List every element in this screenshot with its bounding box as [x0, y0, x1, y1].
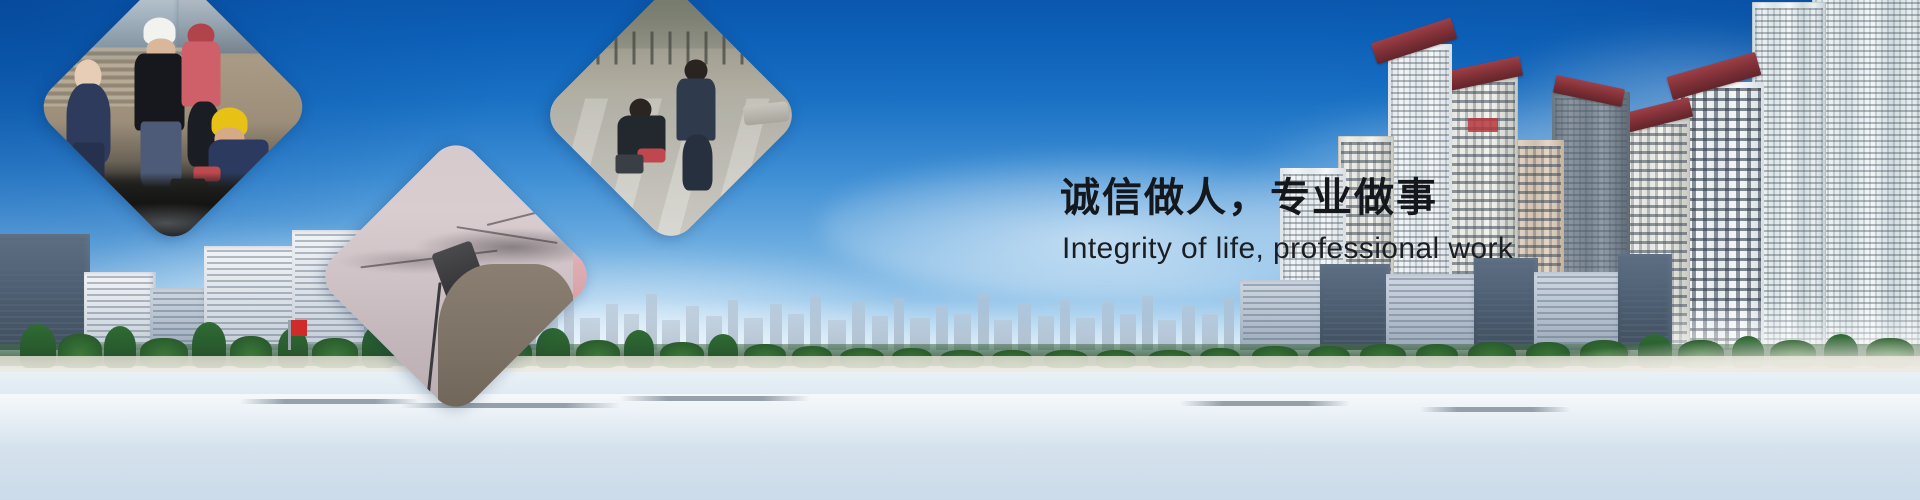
- jetty-b: [400, 403, 620, 408]
- headline-chinese: 诚信做人，专业做事: [1060, 165, 1438, 223]
- jetty-d: [1180, 401, 1350, 406]
- promo-banner: 诚信做人，专业做事 Integrity of life, professiona…: [0, 0, 1920, 500]
- jetty-a: [240, 399, 420, 404]
- tower-windows: [1815, 0, 1920, 350]
- tower-grid-right: [1678, 82, 1764, 354]
- building-sign-red: [1468, 118, 1498, 132]
- tower-glass-tall: [1812, 0, 1920, 354]
- jetty-e: [1420, 407, 1570, 412]
- jetty-c: [620, 396, 810, 401]
- tower-windows: [1681, 88, 1761, 350]
- subheadline-english: Integrity of life, professional work: [1062, 232, 1513, 266]
- flag-red: [291, 320, 307, 336]
- tower-windows: [1755, 8, 1823, 350]
